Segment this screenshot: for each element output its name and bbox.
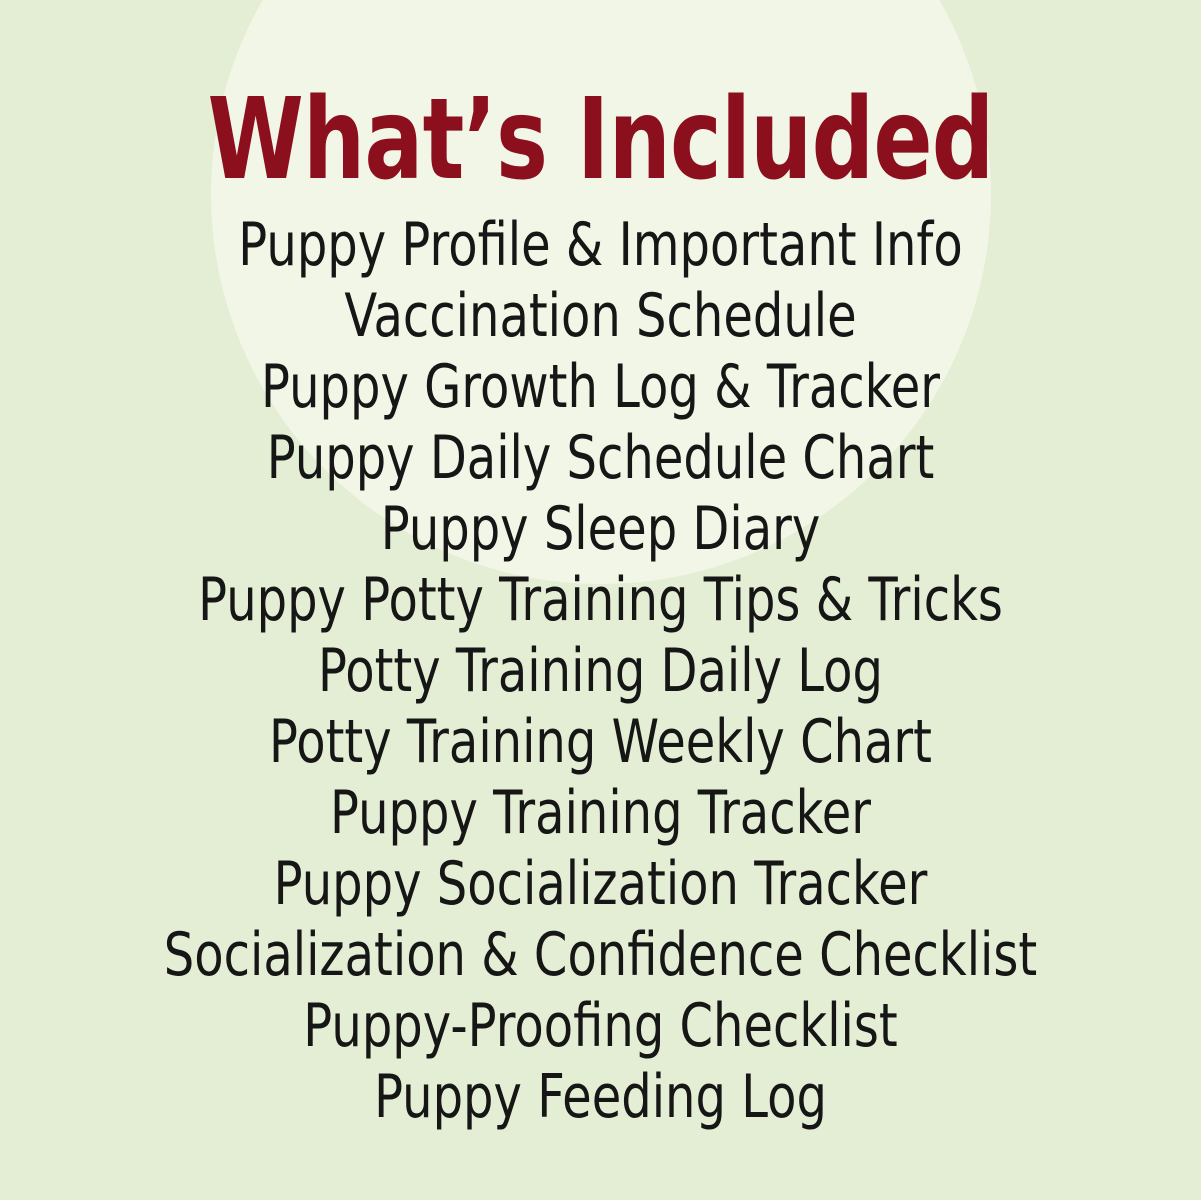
- included-items-list: Puppy Profile & Important Info Vaccinati…: [40, 210, 1161, 1133]
- list-item: Puppy Training Tracker: [152, 778, 1049, 849]
- list-item: Puppy Growth Log & Tracker: [152, 352, 1049, 423]
- list-item: Puppy Feeding Log: [152, 1062, 1049, 1133]
- list-item: Potty Training Weekly Chart: [152, 707, 1049, 778]
- list-item: Puppy-Proofing Checklist: [152, 991, 1049, 1062]
- list-item: Potty Training Daily Log: [152, 636, 1049, 707]
- list-item: Socialization & Confidence Checklist: [152, 920, 1049, 991]
- whats-included-poster: What’s Included Puppy Profile & Importan…: [0, 0, 1201, 1200]
- list-item: Puppy Daily Schedule Chart: [152, 423, 1049, 494]
- list-item: Puppy Profile & Important Info: [152, 210, 1049, 281]
- list-item: Puppy Potty Training Tips & Tricks: [152, 565, 1049, 636]
- page-title: What’s Included: [163, 0, 1037, 196]
- poster-content: What’s Included Puppy Profile & Importan…: [0, 0, 1201, 1200]
- list-item: Puppy Socialization Tracker: [152, 849, 1049, 920]
- list-item: Puppy Sleep Diary: [152, 494, 1049, 565]
- list-item: Vaccination Schedule: [152, 281, 1049, 352]
